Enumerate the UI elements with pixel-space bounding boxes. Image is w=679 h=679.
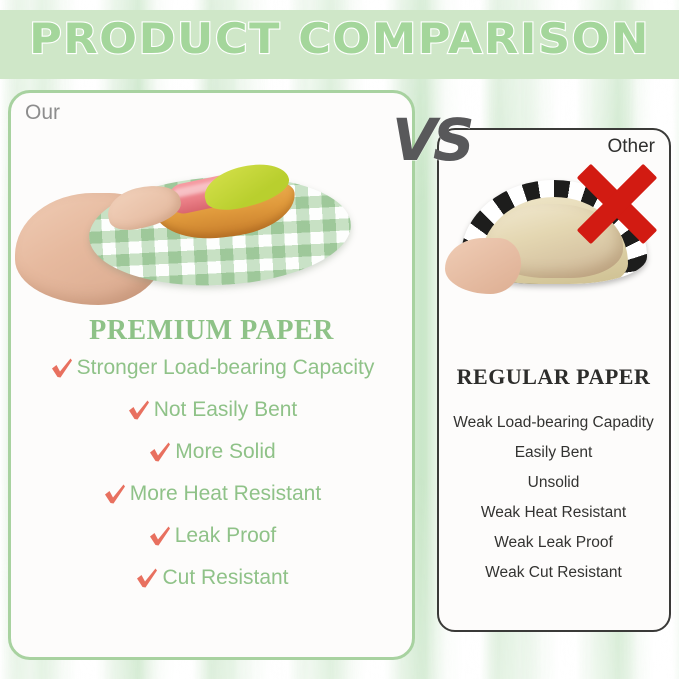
list-item-label: Easily Bent [515, 444, 593, 461]
list-item: Weak Cut Resistant [439, 564, 668, 582]
list-item-label: Leak Proof [175, 524, 277, 548]
list-item-label: Not Easily Bent [154, 398, 298, 422]
check-icon [147, 439, 173, 465]
our-product-photo [11, 151, 412, 311]
list-item: Not Easily Bent [11, 397, 412, 423]
product-comparison-infographic: PRODUCT COMPARISON Our PREMIUM PAPER [0, 0, 679, 679]
other-product-panel: Other REGULAR PAPER Weak Load-bearing Ca… [437, 128, 671, 632]
list-item: Leak Proof [11, 523, 412, 549]
list-item: Weak Load-bearing Capadity [439, 414, 668, 432]
our-paper-heading: PREMIUM PAPER [11, 315, 412, 347]
list-item-label: Cut Resistant [162, 566, 288, 590]
check-icon [49, 355, 75, 381]
check-icon [134, 565, 160, 591]
other-paper-heading: REGULAR PAPER [439, 364, 668, 390]
other-drawback-list: Weak Load-bearing Capadity Easily Bent U… [439, 414, 668, 594]
list-item-label: Weak Cut Resistant [485, 564, 622, 581]
list-item-label: Unsolid [528, 474, 580, 491]
our-product-panel: Our PREMIUM PAPER Stronger Load-bearing … [8, 90, 415, 660]
list-item: More Solid [11, 439, 412, 465]
vs-badge: VS [392, 106, 471, 174]
list-item-label: Weak Load-bearing Capadity [453, 414, 653, 431]
list-item: More Heat Resistant [11, 481, 412, 507]
list-item-label: More Solid [175, 440, 275, 464]
other-panel-label: Other [607, 136, 655, 158]
page-title: PRODUCT COMPARISON [0, 14, 679, 63]
check-icon [126, 397, 152, 423]
check-icon [102, 481, 128, 507]
list-item-label: Weak Heat Resistant [481, 504, 626, 521]
our-feature-list: Stronger Load-bearing Capacity Not Easil… [11, 355, 412, 607]
list-item: Easily Bent [439, 444, 668, 462]
list-item: Weak Leak Proof [439, 534, 668, 552]
red-x-icon [571, 162, 663, 246]
list-item-label: Stronger Load-bearing Capacity [77, 356, 375, 380]
list-item: Stronger Load-bearing Capacity [11, 355, 412, 381]
list-item-label: More Heat Resistant [130, 482, 321, 506]
hand-graphic [445, 238, 521, 294]
list-item-label: Weak Leak Proof [494, 534, 613, 551]
our-panel-label: Our [25, 101, 60, 125]
list-item: Weak Heat Resistant [439, 504, 668, 522]
other-product-photo [445, 160, 667, 300]
list-item: Unsolid [439, 474, 668, 492]
check-icon [147, 523, 173, 549]
list-item: Cut Resistant [11, 565, 412, 591]
